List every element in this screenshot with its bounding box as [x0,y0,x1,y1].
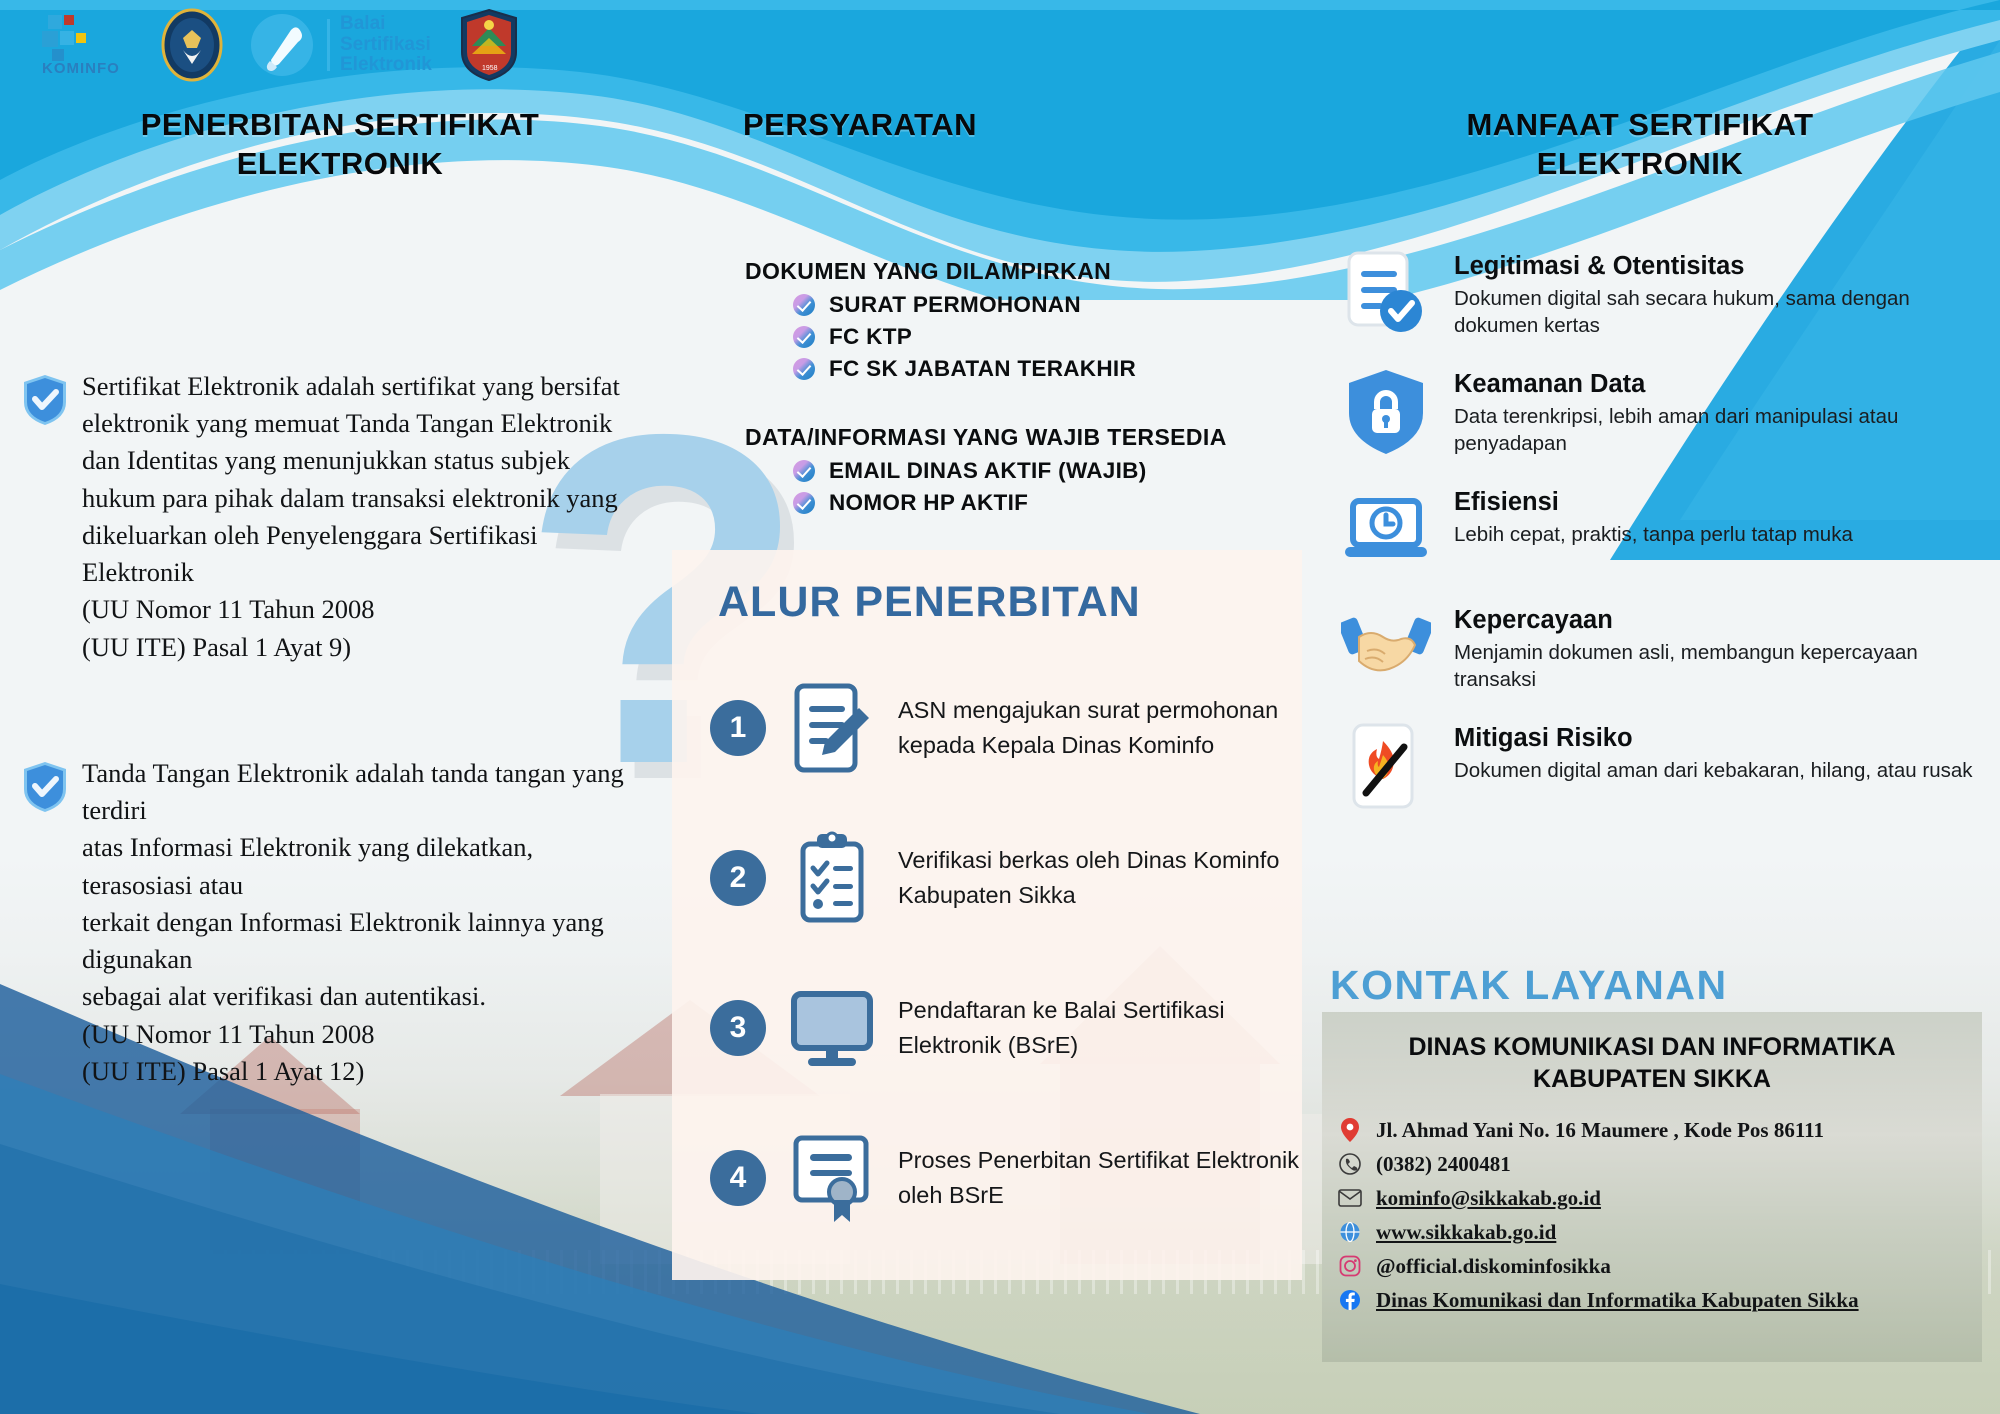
laptop-clock-icon [1340,484,1432,576]
no-fire-icon [1340,720,1432,812]
list-item-label: Dinas Komunikasi dan Informatika Kabupat… [1376,1288,1859,1313]
instagram-icon [1338,1254,1362,1278]
list-item-label: www.sikkakab.go.id [1376,1220,1556,1245]
svg-text:KOMINFO: KOMINFO [42,60,120,77]
phone-icon [1338,1152,1362,1176]
requirements-group2-list: EMAIL DINAS AKTIF (WAJIB) NOMOR HP AKTIF [745,458,1285,516]
garuda-emblem [161,8,223,82]
bsre-logo: Balai Sertifikasi Elektronik [249,12,432,78]
clipboard-check-icon [784,828,880,928]
benefit-title: Keamanan Data [1454,370,1980,399]
definition-text-signature: Tanda Tangan Elektronik adalah tanda tan… [82,755,642,1090]
list-item: Legitimasi & Otentisitas Dokumen digital… [1340,248,1980,340]
benefit-desc: Menjamin dokumen asli, membangun keperca… [1454,639,1980,694]
check-badge-icon [793,358,815,380]
shield-check-icon [22,761,68,813]
check-badge-icon [793,326,815,348]
check-badge-icon [793,460,815,482]
list-item[interactable]: kominfo@sikkakab.go.id [1338,1186,1982,1211]
check-badge-icon [793,492,815,514]
alur-steps: 1 ASN mengajukan surat permohonan kepada… [672,653,1302,1253]
benefit-title: Efisiensi [1454,488,1853,517]
benefit-desc: Dokumen digital aman dari kebakaran, hil… [1454,757,1973,784]
list-item: Mitigasi Risiko Dokumen digital aman dar… [1340,720,1980,812]
requirements-group2-title: DATA/INFORMASI YANG WAJIB TERSEDIA [745,424,1285,451]
benefit-desc: Dokumen digital sah secara hukum, sama d… [1454,285,1980,340]
list-item-label: SURAT PERMOHONAN [829,292,1081,318]
svg-text:1958: 1958 [482,65,498,72]
step-number: 3 [710,1000,766,1056]
list-item: FC KTP [793,324,1285,350]
email-icon [1338,1186,1362,1210]
facebook-icon [1338,1288,1362,1312]
list-item: FC SK JABATAN TERAKHIR [793,356,1285,382]
kontak-list: Jl. Ahmad Yani No. 16 Maumere , Kode Pos… [1338,1118,1982,1313]
list-item: 3 Pendaftaran ke Balai Sertifikasi Elekt… [672,953,1302,1103]
list-item[interactable]: Dinas Komunikasi dan Informatika Kabupat… [1338,1288,1982,1313]
page-title-middle: PERSYARATAN [650,105,1070,144]
list-item-label: kominfo@sikkakab.go.id [1376,1186,1601,1211]
list-item: 1 ASN mengajukan surat permohonan kepada… [672,653,1302,803]
step-number: 2 [710,850,766,906]
shield-check-icon [22,374,68,426]
document-pen-icon [784,678,880,778]
list-item[interactable]: @official.diskominfosikka [1338,1254,1982,1279]
kontak-org-name: DINAS KOMUNIKASI DAN INFORMATIKA KABUPAT… [1340,1032,1964,1096]
shield-lock-icon [1340,366,1432,458]
step-number: 4 [710,1150,766,1206]
kominfo-logo: KOMINFO [30,9,135,81]
benefits-section: Legitimasi & Otentisitas Dokumen digital… [1340,248,1980,838]
sikka-emblem: 1958 [458,8,520,82]
location-pin-icon [1338,1118,1362,1142]
list-item: NOMOR HP AKTIF [793,490,1285,516]
step-text: Pendaftaran ke Balai Sertifikasi Elektro… [898,993,1302,1063]
certificate-icon [784,1128,880,1228]
list-item: SURAT PERMOHONAN [793,292,1285,318]
list-item-label: (0382) 2400481 [1376,1152,1511,1177]
list-item-label: Jl. Ahmad Yani No. 16 Maumere , Kode Pos… [1376,1118,1824,1143]
step-number: 1 [710,700,766,756]
list-item[interactable]: (0382) 2400481 [1338,1152,1982,1177]
alur-panel: ALUR PENERBITAN 1 ASN mengajukan surat p… [672,550,1302,1280]
handshake-icon [1340,602,1432,694]
requirements-section: DOKUMEN YANG DILAMPIRKAN SURAT PERMOHONA… [745,258,1285,522]
definition-text-certificate: Sertifikat Elektronik adalah sertifikat … [82,368,642,666]
step-text: ASN mengajukan surat permohonan kepada K… [898,693,1302,763]
list-item-label: FC KTP [829,324,912,350]
list-item-label: NOMOR HP AKTIF [829,490,1028,516]
definition-block-certificate: Sertifikat Elektronik adalah sertifikat … [22,368,642,666]
kontak-panel: DINAS KOMUNIKASI DAN INFORMATIKA KABUPAT… [1322,1012,1982,1362]
list-item[interactable]: Jl. Ahmad Yani No. 16 Maumere , Kode Pos… [1338,1118,1982,1143]
infographic-page: KOMINFO Balai Sertifikasi Elektronik [0,0,2000,1414]
benefit-title: Mitigasi Risiko [1454,724,1973,753]
benefit-desc: Data terenkripsi, lebih aman dari manipu… [1454,403,1980,458]
list-item: 4 Proses Penerbitan Sertifikat Elektroni… [672,1103,1302,1253]
definition-block-signature: Tanda Tangan Elektronik adalah tanda tan… [22,755,642,1090]
step-text: Verifikasi berkas oleh Dinas Kominfo Kab… [898,843,1302,913]
check-badge-icon [793,294,815,316]
list-item-label: @official.diskominfosikka [1376,1254,1611,1279]
list-item[interactable]: www.sikkakab.go.id [1338,1220,1982,1245]
alur-title: ALUR PENERBITAN [672,550,1302,627]
page-title-right: MANFAAT SERTIFIKAT ELEKTRONIK [1360,105,1920,183]
monitor-icon [784,978,880,1078]
bsre-wordmark: Balai Sertifikasi Elektronik [340,14,432,76]
requirements-group1-title: DOKUMEN YANG DILAMPIRKAN [745,258,1285,285]
list-item: 2 Verifikasi berkas oleh Dinas Komi [672,803,1302,953]
logo-strip: KOMINFO Balai Sertifikasi Elektronik [30,8,520,82]
document-verified-icon [1340,248,1432,340]
benefit-title: Kepercayaan [1454,606,1980,635]
list-item: Efisiensi Lebih cepat, praktis, tanpa pe… [1340,484,1980,576]
globe-icon [1338,1220,1362,1244]
benefit-title: Legitimasi & Otentisitas [1454,252,1980,281]
list-item-label: FC SK JABATAN TERAKHIR [829,356,1136,382]
list-item: EMAIL DINAS AKTIF (WAJIB) [793,458,1285,484]
page-title-left: PENERBITAN SERTIFIKAT ELEKTRONIK [60,105,620,183]
list-item-label: EMAIL DINAS AKTIF (WAJIB) [829,458,1147,484]
list-item: Keamanan Data Data terenkripsi, lebih am… [1340,366,1980,458]
kontak-title: KONTAK LAYANAN [1330,962,1728,1009]
step-text: Proses Penerbitan Sertifikat Elektronik … [898,1143,1302,1213]
benefit-desc: Lebih cepat, praktis, tanpa perlu tatap … [1454,521,1853,548]
list-item: Kepercayaan Menjamin dokumen asli, memba… [1340,602,1980,694]
requirements-group1-list: SURAT PERMOHONAN FC KTP FC SK JABATAN TE… [745,292,1285,382]
